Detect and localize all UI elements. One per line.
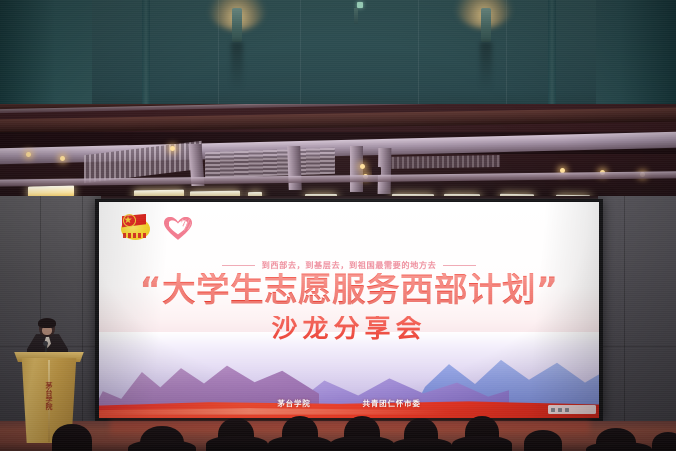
ceiling-spotlight	[360, 164, 365, 169]
screen-mini-toolbar[interactable]	[548, 405, 596, 414]
sconce-shadow	[480, 42, 492, 90]
wall-sconce	[232, 8, 242, 42]
wall-panel-seam	[82, 196, 83, 451]
wall-sconce	[481, 8, 491, 42]
sign-bracket	[354, 8, 358, 24]
wall-pillar-right	[548, 0, 556, 112]
slide-organizations: 茅台学院 共青团仁怀市委	[99, 398, 599, 409]
window-icon[interactable]	[551, 408, 555, 412]
ceiling-vent	[205, 148, 335, 179]
dot-icon[interactable]	[558, 408, 562, 412]
org-youth-league: 共青团仁怀市委	[363, 398, 421, 409]
audience-shoulders	[268, 436, 332, 451]
ceiling-spotlight	[170, 146, 175, 151]
wall-pillar-left	[142, 0, 150, 112]
audience-shoulders	[452, 436, 512, 451]
audience-member	[652, 432, 676, 451]
ceiling-grille	[382, 155, 500, 169]
audience-member	[524, 430, 562, 451]
subtitle-rule-left	[222, 265, 255, 266]
wall-panel-seam	[624, 196, 625, 451]
org-college: 茅台学院	[277, 398, 310, 409]
ceiling-projector	[372, 167, 381, 175]
volunteer-heart-hand-icon	[164, 214, 194, 240]
slide-logos	[119, 214, 194, 240]
led-screen[interactable]: 到西部去，到基层去，到祖国最需要的地方去 “大学生志愿服务西部计划” 沙龙分享会…	[99, 202, 599, 418]
slide-title-sub: 沙龙分享会	[99, 316, 599, 342]
audience-shoulders	[128, 440, 196, 451]
sconce-shadow	[231, 42, 243, 90]
emblem-text-strip	[123, 233, 148, 238]
wall-panel-seam	[598, 346, 676, 347]
ceiling-rib	[287, 146, 302, 190]
side-wall-right	[598, 196, 676, 451]
podium-label: 茅台学院	[39, 382, 52, 410]
communist-youth-league-emblem-icon	[119, 214, 152, 240]
search-icon[interactable]	[565, 408, 569, 412]
speaker-hair	[38, 318, 56, 328]
ceiling-spotlight	[26, 152, 31, 157]
ceiling-spotlight	[60, 156, 65, 161]
microphone-icon	[43, 341, 48, 346]
audience-shoulders	[586, 442, 652, 451]
ceiling-rib	[350, 146, 363, 192]
audience-shoulders	[206, 436, 268, 451]
photo-scene: 到西部去，到基层去，到祖国最需要的地方去 “大学生志愿服务西部计划” 沙龙分享会…	[0, 0, 676, 451]
subtitle-rule-right	[443, 265, 476, 266]
audience-shoulders	[330, 436, 394, 451]
audience-member	[52, 424, 92, 451]
audience-shoulders	[392, 438, 452, 451]
slide-title-main: “大学生志愿服务西部计划”	[99, 273, 599, 307]
